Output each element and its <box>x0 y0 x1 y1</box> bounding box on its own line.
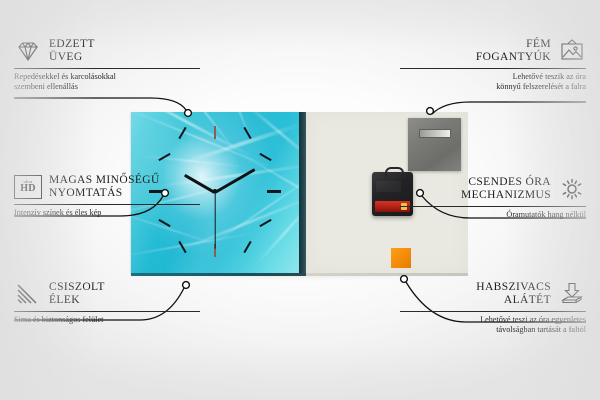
picture-hanger-icon <box>558 38 586 64</box>
dial-tick <box>214 126 216 139</box>
feature-high-quality-print: ultra HD MAGAS MINŐSÉGŰ NYOMTATÁS Intenz… <box>14 174 200 218</box>
mechanism-seam <box>376 181 401 192</box>
feature-title: MAGAS MINŐSÉGŰ NYOMTATÁS <box>49 174 160 200</box>
feature-description: Lehetővé teszi az óra egyenletes távolsá… <box>400 315 586 335</box>
glass-panel-bottom-edge <box>131 273 306 276</box>
foam-pad-arrow-icon <box>558 281 586 307</box>
feature-title: FÉM FOGANTYÚK <box>476 38 551 64</box>
dial-tick <box>267 190 281 193</box>
divider <box>400 206 586 207</box>
divider <box>14 204 200 205</box>
back-panel-bottom-edge <box>306 273 468 276</box>
hd-label: HD <box>20 184 36 194</box>
infographic-canvas: EDZETT ÜVEG Repedésekkel és karcolásokka… <box>0 0 600 400</box>
feature-description: Lehetővé teszik az óra könnyű felszerelé… <box>400 72 586 92</box>
feature-silent-mechanism: CSENDES ÓRA MECHANIZMUS Óramutatók hang … <box>400 176 586 220</box>
glass-panel-edge <box>299 112 306 273</box>
diamond-icon <box>14 38 42 64</box>
second-hand <box>214 193 215 249</box>
polished-edge-icon <box>14 281 42 307</box>
feature-description: Óramutatók hang nélkül <box>400 210 586 220</box>
feature-tempered-glass: EDZETT ÜVEG Repedésekkel és karcolásokka… <box>14 38 200 92</box>
connector-tempered-glass <box>14 98 186 110</box>
feature-description: Repedésekkel és karcolásokkal szembeni e… <box>14 72 200 92</box>
hanger-slot <box>419 129 451 138</box>
feature-title: HABSZIVACS ALÁTÉT <box>476 281 551 307</box>
clock-center-cap <box>213 189 217 193</box>
divider <box>400 311 586 312</box>
feature-description: Intenzív színek és éles kép <box>14 208 200 218</box>
feature-metal-handles: FÉM FOGANTYÚK Lehetővé teszik az óra kön… <box>400 38 586 92</box>
feature-polished-edges: CSISZOLT ÉLEK Sima és biztonságos felüle… <box>14 281 200 325</box>
feature-foam-spacer: HABSZIVACS ALÁTÉT Lehetővé teszi az óra … <box>400 281 586 335</box>
divider <box>14 68 200 69</box>
metal-hanger-plate <box>408 118 461 171</box>
feature-title: CSENDES ÓRA MECHANIZMUS <box>461 176 551 202</box>
feature-title: EDZETT ÜVEG <box>49 38 95 64</box>
foam-spacer-pad <box>391 248 411 268</box>
feature-description: Sima és biztonságos felület <box>14 315 200 325</box>
ultra-hd-icon: ultra HD <box>14 174 42 200</box>
divider <box>14 311 200 312</box>
divider <box>400 68 586 69</box>
feature-title: CSISZOLT ÉLEK <box>49 281 105 307</box>
gear-icon <box>558 176 586 202</box>
